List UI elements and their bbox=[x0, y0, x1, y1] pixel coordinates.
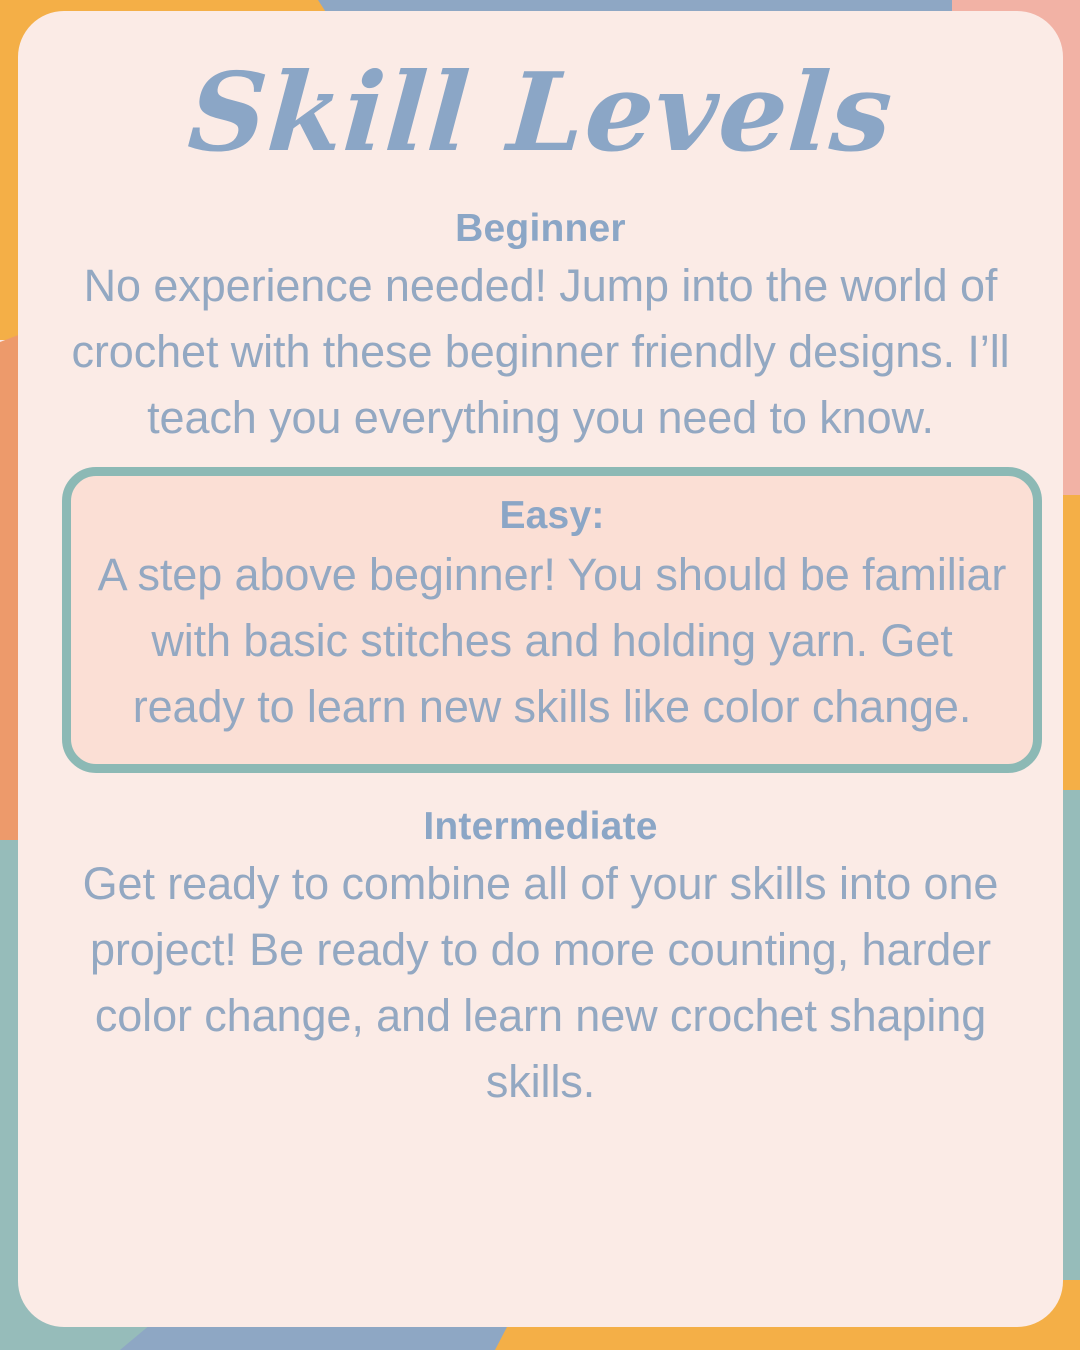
level-section-intermediate: Intermediate Get ready to combine all of… bbox=[62, 803, 1019, 1115]
level-section-easy-highlighted: Easy: A step above beginner! You should … bbox=[62, 467, 1042, 773]
level-section-beginner: Beginner No experience needed! Jump into… bbox=[62, 205, 1019, 451]
level-heading-beginner: Beginner bbox=[62, 205, 1019, 253]
level-heading-intermediate: Intermediate bbox=[62, 803, 1019, 851]
level-body-easy: A step above beginner! You should be fam… bbox=[93, 542, 1011, 740]
level-body-beginner: No experience needed! Jump into the worl… bbox=[62, 253, 1019, 451]
skill-levels-card: Skill Levels Beginner No experience need… bbox=[18, 11, 1063, 1327]
level-heading-easy: Easy: bbox=[93, 492, 1011, 540]
level-body-intermediate: Get ready to combine all of your skills … bbox=[62, 851, 1019, 1116]
page-title: Skill Levels bbox=[185, 59, 896, 167]
